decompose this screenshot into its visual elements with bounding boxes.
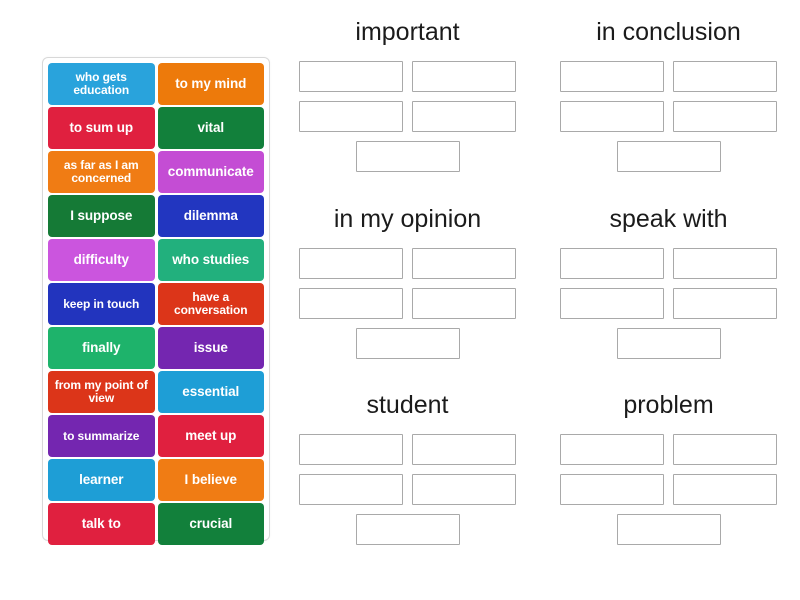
drop-slot[interactable] (617, 141, 721, 172)
drop-slot[interactable] (299, 434, 403, 465)
word-tile[interactable]: essential (158, 371, 265, 413)
drop-slot[interactable] (356, 328, 460, 359)
word-tile[interactable]: meet up (158, 415, 265, 457)
drop-slot-grid (299, 61, 516, 172)
word-tile[interactable]: keep in touch (48, 283, 155, 325)
drop-slot[interactable] (356, 141, 460, 172)
word-tile[interactable]: talk to (48, 503, 155, 545)
word-tile[interactable]: finally (48, 327, 155, 369)
word-tile[interactable]: learner (48, 459, 155, 501)
word-tile[interactable]: communicate (158, 151, 265, 193)
group: speak with (549, 207, 788, 394)
group-title: student (366, 393, 448, 418)
word-tile[interactable]: who gets education (48, 63, 155, 105)
drop-slot[interactable] (412, 434, 516, 465)
word-tile[interactable]: from my point of view (48, 371, 155, 413)
group-title: problem (623, 393, 713, 418)
drop-slot[interactable] (673, 248, 777, 279)
drop-slot[interactable] (673, 474, 777, 505)
word-tile[interactable]: I suppose (48, 195, 155, 237)
drop-slot[interactable] (673, 61, 777, 92)
group: student (288, 393, 527, 580)
drop-slot[interactable] (412, 248, 516, 279)
drop-slot[interactable] (617, 514, 721, 545)
drop-slot[interactable] (673, 101, 777, 132)
group: problem (549, 393, 788, 580)
word-tile[interactable]: who studies (158, 239, 265, 281)
drop-slot[interactable] (412, 101, 516, 132)
word-bank-panel: who gets educationto my mindto sum upvit… (42, 57, 270, 541)
word-tile[interactable]: to summarize (48, 415, 155, 457)
drop-slot-grid (299, 248, 516, 359)
drop-slot[interactable] (412, 61, 516, 92)
word-bank-grid: who gets educationto my mindto sum upvit… (48, 63, 264, 545)
drop-slot[interactable] (299, 248, 403, 279)
word-tile[interactable]: to sum up (48, 107, 155, 149)
drop-slot-grid (560, 248, 777, 359)
word-tile[interactable]: issue (158, 327, 265, 369)
drop-slot[interactable] (299, 101, 403, 132)
drop-slot[interactable] (560, 101, 664, 132)
word-tile[interactable]: vital (158, 107, 265, 149)
group-columns: importantin conclusionin my opinionspeak… (288, 20, 788, 580)
drop-slot[interactable] (560, 288, 664, 319)
group: in my opinion (288, 207, 527, 394)
drop-slot[interactable] (560, 61, 664, 92)
group: important (288, 20, 527, 207)
word-tile[interactable]: have a conversation (158, 283, 265, 325)
drop-slot[interactable] (299, 288, 403, 319)
drop-slot[interactable] (299, 474, 403, 505)
drop-slot[interactable] (673, 288, 777, 319)
group-title: speak with (609, 207, 727, 232)
group-title: in conclusion (596, 20, 741, 45)
word-tile[interactable]: difficulty (48, 239, 155, 281)
drop-slot[interactable] (673, 434, 777, 465)
word-tile[interactable]: dilemma (158, 195, 265, 237)
drop-slot[interactable] (560, 434, 664, 465)
drop-slot[interactable] (299, 61, 403, 92)
group: in conclusion (549, 20, 788, 207)
group-title: important (355, 20, 459, 45)
word-tile[interactable]: crucial (158, 503, 265, 545)
drop-slot[interactable] (617, 328, 721, 359)
drop-slot[interactable] (560, 248, 664, 279)
word-tile[interactable]: I believe (158, 459, 265, 501)
drop-slot[interactable] (356, 514, 460, 545)
drop-slot[interactable] (560, 474, 664, 505)
word-tile[interactable]: to my mind (158, 63, 265, 105)
drop-slot-grid (560, 61, 777, 172)
drop-slot[interactable] (412, 474, 516, 505)
drop-slot[interactable] (412, 288, 516, 319)
drop-slot-grid (299, 434, 516, 545)
word-tile[interactable]: as far as I am concerned (48, 151, 155, 193)
group-title: in my opinion (334, 207, 481, 232)
drop-slot-grid (560, 434, 777, 545)
